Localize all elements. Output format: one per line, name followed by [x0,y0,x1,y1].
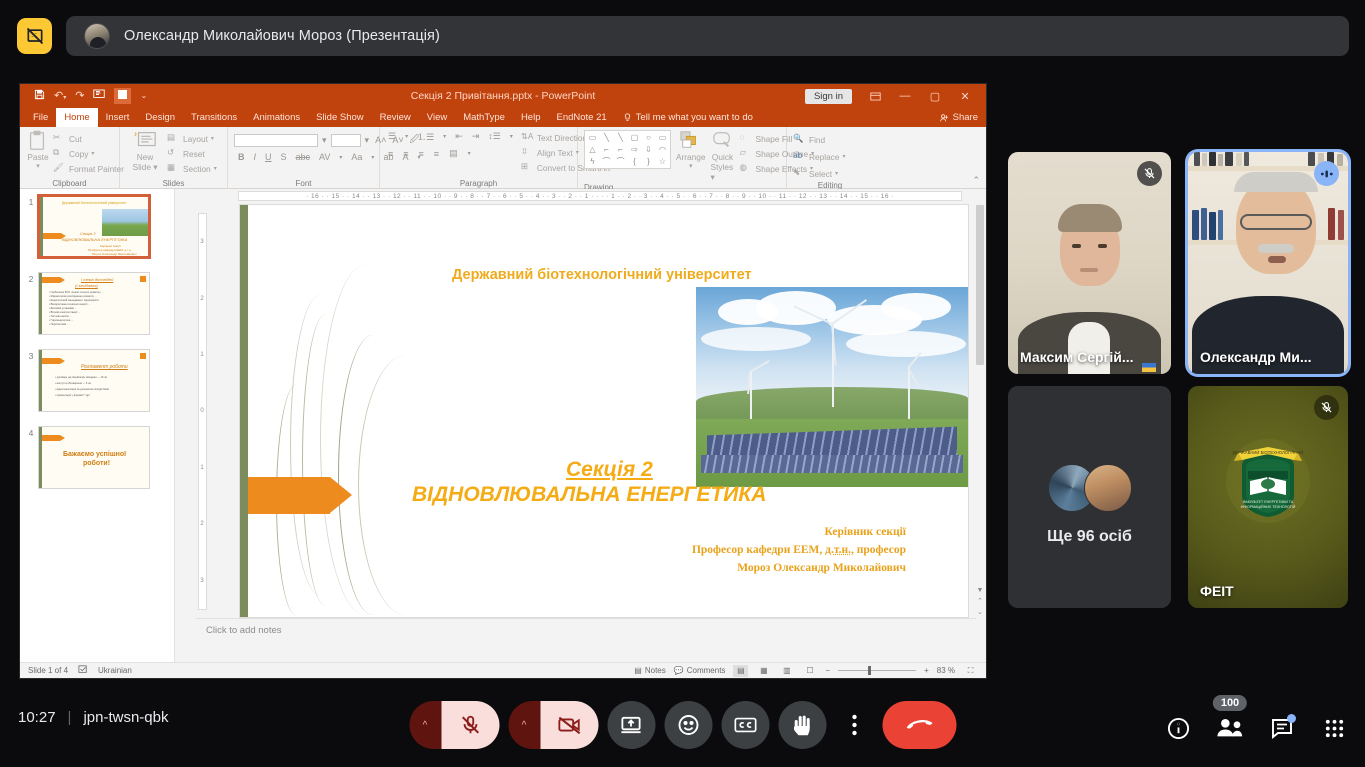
university-emblem-icon: ДЕРЖАВНИЙ БІОТЕХНОЛОГІЧНИЙ ФАКУЛЬТЕТ ЕНЕ… [1224,433,1312,525]
footer-line2-b: д.т.н. [825,544,851,556]
slide-thumbnail-3[interactable]: Регламент роботи • доповідь на секційном… [38,349,150,412]
speaking-icon [1314,161,1339,186]
shape-brace-right-icon[interactable]: } [642,156,655,167]
slide-number: 1 [24,195,38,207]
italic-button[interactable]: I [252,152,259,162]
bold-button[interactable]: B [236,152,247,162]
shape-line-icon[interactable]: ╲ [600,132,613,143]
vertical-ruler-ticks: 3210123 [198,213,207,610]
shape-star-icon[interactable]: ☆ [656,156,669,167]
spellcheck-icon[interactable] [78,665,88,676]
ribbon-group-font: ▾ ▾ A˄ A˅ 🖉 B I U S abc AV▾ Aa▾ a [228,127,380,189]
share-label: Share [953,112,978,123]
slide-footer-line1: Керівник секції [692,523,906,541]
tab-file[interactable]: File [25,108,56,127]
reading-view-icon[interactable]: ▥ [779,665,794,677]
sign-in-button[interactable]: Sign in [805,89,852,104]
shape-arc-icon[interactable]: ⌒ [614,156,627,167]
quick-styles-button[interactable]: Quick Styles ▾ [711,130,735,182]
window-controls: Sign in — ▢ ✕ [805,84,980,108]
svg-text:ІНФОРМАЦІЙНИХ ТЕХНОЛОГІЙ: ІНФОРМАЦІЙНИХ ТЕХНОЛОГІЙ [1241,505,1296,509]
slide-number: 2 [24,272,38,284]
layout-icon: ▤ [167,132,180,145]
numbering-icon[interactable]: ⒈☰ [415,130,436,143]
slideshow-icon[interactable]: ☐ [802,665,817,677]
tab-review[interactable]: Review [372,108,419,127]
microphone-toggle[interactable]: ^ [409,701,499,749]
participant-tile-overflow[interactable]: Ще 96 осіб [1008,386,1171,608]
shape-textbox-icon[interactable]: ▭ [586,132,599,143]
scroll-down-icon[interactable]: ▼ [976,586,984,596]
reset-button[interactable]: ↺Reset [167,147,217,160]
minimize-icon[interactable]: — [890,84,920,108]
meeting-info: 10:27 | jpn-twsn-qbk [18,709,169,726]
text-direction-icon: ⇅A [521,131,534,144]
notes-icon: ▤ [634,666,642,675]
shape-arrow-icon[interactable]: ╲ [614,132,627,143]
thumb-badge [140,276,146,282]
slide-section-title: ВІДНОВЛЮВАЛЬНА ЕНЕРГЕТИКА [412,483,766,507]
tab-help[interactable]: Help [513,108,549,127]
zoom-out-button[interactable]: − [825,666,830,675]
ribbon-display-options-icon[interactable] [860,84,890,108]
more-options-button[interactable] [835,701,873,749]
vertical-ruler: 3210123 [196,203,208,618]
meet-presentation-screen: Олександр Миколайович Мороз (Презентація… [0,0,1365,767]
slide-thumbnail-4[interactable]: Бажаємо успішної роботи! [38,426,150,489]
slide-thumbnail-1[interactable]: Державний біотехнологічний університет С… [38,195,150,258]
meeting-details-button[interactable] [1163,713,1193,743]
tab-design[interactable]: Design [137,108,183,127]
character-spacing-button[interactable]: AV [317,152,332,162]
tab-mathtype[interactable]: MathType [455,108,513,127]
select-label: Select [809,169,832,179]
flag-pin [1142,363,1156,372]
quick-styles-label-2: Styles ▾ [711,162,735,182]
smartart-icon: ⊞ [521,161,534,174]
comments-label: Comments [687,666,726,675]
zoom-level: 83 % [937,666,955,675]
shape-triangle-icon[interactable]: △ [586,144,599,155]
people-count-badge: 100 [1213,695,1247,711]
person-mouth [1268,256,1286,263]
section-button[interactable]: ▦Section▾ [167,162,217,175]
microphone-options-chevron[interactable]: ^ [409,701,441,749]
line-spacing-icon[interactable]: ↕☰ [486,131,503,142]
arrange-button[interactable]: Arrange ▾ [676,130,706,170]
thumbnail-row[interactable]: 2 І тема доповідей (І засідання) • Горба… [24,272,170,335]
layout-label: Layout [183,134,208,144]
slide-canvas-area: Державний біотехнологічний університет [210,205,976,618]
participant-name: ФЕІТ [1200,583,1234,599]
new-slide-button[interactable]: New Slide ▾ [126,130,164,172]
scissors-icon: ✂ [53,132,66,145]
presentation-off-icon[interactable] [17,18,52,54]
person-glasses [1240,214,1312,230]
shape-arrow-right-icon[interactable]: ⇨ [628,144,641,155]
share-button[interactable]: Share [939,108,978,127]
top-bar: Олександр Миколайович Мороз (Презентація… [0,0,1365,72]
thumbnail-row[interactable]: 3 Регламент роботи • доповідь на секційн… [24,349,170,412]
cut-label: Cut [69,134,82,144]
ribbon-group-slides: New Slide ▾ ▤Layout▾ ↺Reset ▦Section▾ Sl… [120,127,228,189]
powerpoint-titlebar: ↶▾ ↷ ⌄ Секція 2 Привітання.pptx - PowerP… [20,84,986,108]
shape-flow-icon[interactable]: ◠ [656,144,669,155]
next-slide-icon[interactable]: ⌄ [976,608,984,618]
tab-endnote[interactable]: EndNote 21 [548,108,614,127]
slide-section-label: Секція 2 [566,458,653,482]
tab-slide-show[interactable]: Slide Show [308,108,372,127]
horizontal-ruler: · 16 · · 15 · · 14 · · 13 · · 12 · · 11 … [196,189,986,203]
ribbon-group-clipboard: Paste ▾ ✂Cut ⧉Copy▾ 🖌Format Painter Clip… [20,127,120,189]
shape-rect-icon[interactable]: ▢ [628,132,641,143]
person-hair [1234,172,1318,192]
thumbnail-row[interactable]: 1 Державний біотехнологічний університет… [24,195,170,258]
select-button[interactable]: ⬉Select▾ [793,167,845,180]
replace-button[interactable]: abReplace▾ [793,150,845,163]
right-controls: 100 [1163,713,1349,743]
change-case-button[interactable]: Aa [349,152,364,162]
font-name-input[interactable] [234,134,318,147]
close-icon[interactable]: ✕ [950,84,980,108]
slide-header-text: Державний біотехнологічний університет [452,267,752,283]
mic-off-icon [1137,161,1162,186]
slide-counter[interactable]: Slide 1 of 4 [28,666,68,675]
ribbon-group-drawing: ▭ ╲ ╲ ▢ ○ ▭ △ ⌐ ⌐ ⇨ ⇩ ◠ ϟ ⌒ ⌒ [578,127,787,189]
renewable-energy-photo [696,287,968,487]
comment-bubble-icon: 💬 [674,666,684,675]
previous-slide-icon[interactable]: ⌃ [976,597,984,607]
participant-name: Максим Сергій... [1020,349,1134,365]
person-moustache [1258,244,1294,253]
grass-decoration [250,205,460,617]
new-slide-icon [133,130,157,152]
shape-corner-icon[interactable]: ⌐ [600,144,613,155]
thumb-arrow [43,233,61,239]
normal-view-icon[interactable]: ▤ [733,665,748,677]
thumb-photo [102,209,148,236]
tab-animations[interactable]: Animations [245,108,308,127]
presenter-pill[interactable]: Олександр Миколайович Мороз (Презентація… [66,16,1349,56]
slide-orange-arrow [248,477,330,514]
participant-tile-feit[interactable]: ДЕРЖАВНИЙ БІОТЕХНОЛОГІЧНИЙ ФАКУЛЬТЕТ ЕНЕ… [1188,386,1348,608]
participant-tile-maksym[interactable]: Максим Сергій... [1008,152,1171,374]
green-stripe [40,197,43,256]
slide-thumbnail-2[interactable]: І тема доповідей (І засідання) • Горбате… [38,272,150,335]
group-label-font: Font [228,178,379,189]
increase-indent-icon[interactable]: ⇥ [470,131,482,142]
thumb-title-4: Бажаємо успішної [63,451,126,458]
shape-oval-icon[interactable]: ○ [642,132,655,143]
underline-button[interactable]: U [263,152,274,162]
person-eye-right [1098,244,1107,248]
zoom-in-button[interactable]: + [924,666,929,675]
activities-button[interactable] [1319,713,1349,743]
find-button[interactable]: 🔍Find [793,133,845,146]
new-slide-label-2: Slide ▾ [133,162,158,172]
align-right-icon[interactable]: ≡ [417,149,426,159]
svg-text:ДЕРЖАВНИЙ БІОТЕХНОЛОГІЧНИЙ: ДЕРЖАВНИЙ БІОТЕХНОЛОГІЧНИЙ [1233,450,1304,455]
shape-curve-icon[interactable]: ⌒ [600,156,613,167]
camera-off-icon[interactable] [540,701,598,749]
group-label-slides: Slides [120,178,227,189]
replace-icon: ab [793,150,806,163]
overflow-count-label: Ще 96 осіб [1008,528,1171,546]
section-label: Section [183,164,211,174]
quick-styles-label-1: Quick [712,152,733,162]
shapes-gallery[interactable]: ▭ ╲ ╲ ▢ ○ ▭ △ ⌐ ⌐ ⇨ ⇩ ◠ ϟ ⌒ ⌒ [584,130,671,169]
tab-home[interactable]: Home [56,108,97,127]
present-screen-button[interactable] [607,701,655,749]
captions-button[interactable] [721,701,769,749]
thumb-arrow [42,277,60,283]
copy-icon: ⧉ [53,147,66,160]
tab-insert[interactable]: Insert [98,108,138,127]
avatar [1084,464,1132,512]
columns-icon[interactable]: ▤ [447,148,460,159]
footer-line2-a: Професор кафедри ЕЕМ, [692,544,825,556]
shape-brace-left-icon[interactable]: { [628,156,641,167]
notes-toggle-button[interactable]: ▤ Notes [634,666,665,675]
slide-green-stripe [240,205,248,617]
presenter-name: Олександр Миколайович Мороз (Презентація… [124,28,440,44]
people-button[interactable]: 100 [1215,713,1245,743]
camera-toggle[interactable]: ^ [508,701,598,749]
find-label: Find [809,135,825,145]
group-label-clipboard: Clipboard [20,178,119,189]
shape-scribble-icon[interactable]: ϟ [586,156,599,167]
layout-button[interactable]: ▤Layout▾ [167,132,217,145]
call-controls: ^ ^ [409,701,956,749]
person-mouth [1080,268,1098,272]
paintbrush-icon: 🖌 [53,162,66,175]
new-slide-label-1: New [137,152,154,162]
justify-icon[interactable]: ≡ [432,149,441,159]
slide-footer-line2: Професор кафедри ЕЕМ, д.т.н., професор [692,541,906,559]
powerpoint-window: ↶▾ ↷ ⌄ Секція 2 Привітання.pptx - PowerP… [20,84,986,678]
svg-text:ФАКУЛЬТЕТ ЕНЕРГЕТИКИ ТА: ФАКУЛЬТЕТ ЕНЕРГЕТИКИ ТА [1243,500,1294,504]
person-shirt [1068,322,1110,374]
tell-me-box[interactable]: Tell me what you want to do [615,108,761,127]
shape-outline-icon: ▱ [740,147,753,160]
chat-button[interactable] [1267,713,1297,743]
notes-pane[interactable]: Click to add notes [196,618,976,644]
ruler-ticks: · 16 · · 15 · · 14 · · 13 · · 12 · · 11 … [238,191,962,201]
thumb-badge [140,353,146,359]
notes-label: Notes [645,666,666,675]
fit-to-window-icon[interactable]: ⛶ [963,665,978,677]
section-icon: ▦ [167,162,180,175]
tab-view[interactable]: View [419,108,455,127]
ribbon: Paste ▾ ✂Cut ⧉Copy▾ 🖌Format Painter Clip… [20,127,986,189]
collapse-ribbon-icon[interactable]: ⌃ [972,175,980,186]
slide-footer-line3: Мороз Олександр Миколайович [692,559,906,577]
replace-label: Replace [809,152,839,162]
paste-button[interactable]: Paste ▾ [26,130,50,170]
separator: | [68,709,72,726]
tell-me-text: Tell me what you want to do [636,112,753,123]
tab-transitions[interactable]: Transitions [183,108,245,127]
person-eye-left [1072,244,1081,248]
avatar [84,23,110,49]
scrollbar-thumb[interactable] [976,205,984,365]
slide-number: 3 [24,349,38,361]
copy-button[interactable]: ⧉Copy▾ [53,147,124,160]
search-icon: 🔍 [793,133,806,146]
decrease-indent-icon[interactable]: ⇤ [453,131,465,142]
language-indicator[interactable]: Ukrainian [98,666,132,675]
participant-tile-oleksandr[interactable]: Олександр Ми... [1188,152,1348,374]
meeting-code: jpn-twsn-qbk [83,709,168,726]
bottom-bar: 10:27 | jpn-twsn-qbk ^ ^ [0,691,1365,767]
slide-thumbnail-panel[interactable]: 1 Державний біотехнологічний університет… [20,189,175,678]
comments-toggle-button[interactable]: 💬 Comments [674,666,726,675]
align-center-icon[interactable]: ≡ [401,149,410,159]
zoom-slider-knob[interactable] [868,666,871,675]
ribbon-group-paragraph: ☰▾ ⒈☰▾ ⇤ ⇥ ↕☰▾ ≡ ≡ ≡ ≡ ▤▾ [380,127,578,189]
maximize-icon[interactable]: ▢ [920,84,950,108]
thumb-arrow [42,435,60,441]
shape-effects-icon: ◍ [740,162,753,175]
powerpoint-body: 1 Державний біотехнологічний університет… [20,189,986,678]
clock: 10:27 [18,709,56,726]
arrange-label: Arrange [676,152,706,162]
slide-footer-block: Керівник секції Професор кафедри ЕЕМ, д.… [692,523,906,577]
leave-call-button[interactable] [882,701,956,749]
person-hair [1058,204,1122,232]
format-painter-label: Format Painter [69,164,124,174]
ribbon-group-editing: 🔍Find abReplace▾ ⬉Select▾ Editing [787,127,873,189]
chat-unread-dot [1287,714,1296,723]
slide-vertical-scrollbar[interactable]: ▲ ▼ ⌃ ⌄ [975,203,985,618]
powerpoint-status-bar: Slide 1 of 4 Ukrainian ▤ Notes 💬 Comment… [20,662,986,678]
reset-icon: ↺ [167,147,180,160]
align-text-icon: ⇳ [521,146,534,159]
mic-off-icon [1314,395,1339,420]
copy-label: Copy [69,149,88,159]
ribbon-tabs: File Home Insert Design Transitions Anim… [20,108,986,127]
group-label-paragraph: Paragraph [380,178,577,189]
arrange-icon [679,130,703,152]
slide-sorter-icon[interactable]: ▦ [756,665,771,677]
bullets-icon[interactable]: ☰ [386,131,398,142]
raise-hand-button[interactable] [778,701,826,749]
footer-line2-c: , професор [851,544,906,556]
slide-number: 4 [24,426,38,438]
format-painter-button[interactable]: 🖌Format Painter [53,162,124,175]
font-size-input[interactable] [331,134,361,147]
emoji-reactions-button[interactable] [664,701,712,749]
paste-icon [26,130,50,152]
cut-button[interactable]: ✂Cut [53,132,124,145]
zoom-slider[interactable] [838,670,916,671]
camera-options-chevron[interactable]: ^ [508,701,540,749]
cursor-icon: ⬉ [793,167,806,180]
shape-roundrect-icon[interactable]: ▭ [656,132,669,143]
mic-off-icon[interactable] [441,701,499,749]
reset-label: Reset [183,149,205,159]
participant-name: Олександр Ми... [1200,349,1312,365]
paste-label: Paste [27,152,48,162]
thumb-arrow [42,358,60,364]
strikethrough-button[interactable]: abc [294,152,313,162]
shadow-button[interactable]: S [279,152,289,162]
align-left-icon[interactable]: ≡ [386,149,395,159]
quick-styles-icon [711,130,735,152]
slide-canvas[interactable]: Державний біотехнологічний університет [240,205,968,617]
align-text-label: Align Text [537,148,573,158]
thumbnail-row[interactable]: 4 Бажаємо успішної роботи! [24,426,170,489]
shape-arrow-down-icon[interactable]: ⇩ [642,144,655,155]
shape-elbow-icon[interactable]: ⌐ [614,144,627,155]
shape-fill-icon: ◌ [740,132,753,145]
